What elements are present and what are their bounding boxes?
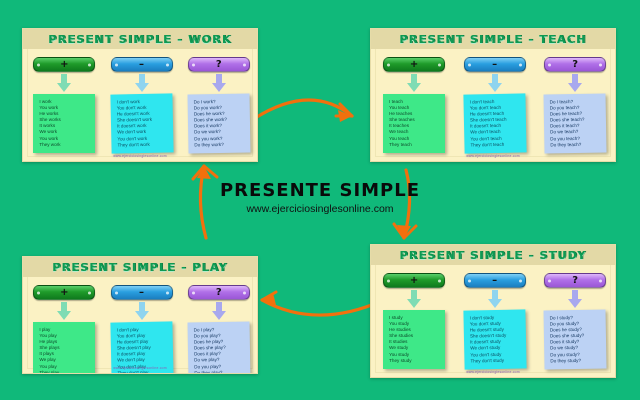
screw-icon [468, 279, 471, 282]
note-interrogative: Do I teach? Do you teach? Does he teach?… [544, 93, 607, 153]
card-title: PRESENT SIMPLE - STUDY [399, 249, 586, 262]
screw-icon [438, 279, 441, 282]
column-negative: – I don't study You don't study He doesn… [454, 267, 535, 369]
poster-title: PRESENTE SIMPLE [0, 181, 640, 201]
screw-icon [115, 63, 118, 66]
card-title-band: PRESENT SIMPLE - TEACH [371, 29, 615, 49]
card-work[interactable]: PRESENT SIMPLE - WORK + I work You work … [22, 28, 258, 162]
screw-icon [548, 63, 551, 66]
badge-symbol: – [139, 288, 144, 298]
badge-symbol: + [410, 60, 418, 70]
note-negative: I don't teach You don't teach He doesn't… [463, 93, 526, 153]
badge-affirmative[interactable]: + [383, 273, 445, 288]
badge-affirmative[interactable]: + [383, 57, 445, 72]
badge-interrogative[interactable]: ? [544, 57, 606, 72]
note-affirmative: I study You study He studies She studies… [383, 310, 445, 369]
badge-symbol: – [492, 276, 497, 286]
badge-symbol: – [492, 60, 497, 70]
card-title-band: PRESENT SIMPLE - WORK [23, 29, 257, 49]
sentence: Do they teach? [550, 141, 603, 148]
screw-icon [192, 63, 195, 66]
card-footer-url: www.ejerciciosinglesonline.com [371, 154, 615, 158]
screw-icon [243, 63, 246, 66]
screw-icon [166, 291, 169, 294]
poster-canvas: PRESENT SIMPLE - WORK + I work You work … [0, 0, 640, 400]
sentence: They don't study [470, 357, 523, 364]
card-study[interactable]: PRESENT SIMPLE - STUDY + I study You stu… [370, 244, 616, 378]
sentence: They work [39, 142, 92, 148]
screw-icon [387, 63, 390, 66]
card-columns: + I study You study He studies She studi… [371, 267, 615, 377]
badge-symbol: ? [572, 276, 578, 286]
note-affirmative: I teach You teach He teaches She teaches… [383, 94, 445, 153]
column-affirmative: + I teach You teach He teaches She teach… [373, 51, 454, 153]
screw-icon [599, 279, 602, 282]
screw-icon [387, 279, 390, 282]
sentence: They don't work [117, 141, 170, 148]
screw-icon [548, 279, 551, 282]
screw-icon [438, 63, 441, 66]
card-footer-url: www.ejerciciosinglesonline.com [23, 154, 257, 158]
screw-icon [599, 63, 602, 66]
down-arrow-icon [488, 74, 502, 92]
badge-interrogative[interactable]: ? [188, 57, 250, 72]
column-affirmative: + I play You play He plays She plays It … [25, 279, 103, 374]
badge-symbol: – [139, 60, 144, 70]
card-columns: + I work You work He works She works It … [23, 51, 257, 161]
badge-negative[interactable]: – [464, 273, 526, 288]
sentence: Do they study? [550, 357, 603, 364]
screw-icon [519, 63, 522, 66]
down-arrow-icon [407, 290, 421, 308]
column-negative: – I don't work You don't work He doesn't… [103, 51, 181, 153]
card-title-band: PRESENT SIMPLE - STUDY [371, 245, 615, 265]
column-interrogative: ? Do I study? Do you study? Does he stud… [534, 267, 615, 369]
centre-block: PRESENTE SIMPLE www.ejerciciosinglesonli… [0, 181, 640, 215]
down-arrow-icon [407, 74, 421, 92]
note-negative: I don't study You don't study He doesn't… [463, 309, 526, 369]
down-arrow-icon [568, 74, 582, 92]
note-interrogative: Do I work? Do you work? Does he work? Do… [187, 93, 250, 153]
down-arrow-icon [135, 74, 149, 92]
screw-icon [88, 291, 91, 294]
card-teach[interactable]: PRESENT SIMPLE - TEACH + I teach You tea… [370, 28, 616, 162]
card-columns: + I play You play He plays She plays It … [23, 279, 257, 373]
sentence: They study [389, 358, 442, 364]
badge-symbol: ? [216, 288, 222, 298]
screw-icon [37, 63, 40, 66]
column-negative: – I don't play You don't play He doesn't… [103, 279, 181, 374]
card-title: PRESENT SIMPLE - PLAY [52, 261, 228, 274]
sentence: They don't teach [470, 141, 523, 148]
down-arrow-icon [135, 302, 149, 320]
card-title-band: PRESENT SIMPLE - PLAY [23, 257, 257, 277]
badge-negative[interactable]: – [111, 285, 173, 300]
down-arrow-icon [568, 290, 582, 308]
screw-icon [192, 291, 195, 294]
card-footer-url: www.ejerciciosinglesonline.com [23, 366, 257, 370]
column-interrogative: ? Do I teach? Do you teach? Does he teac… [534, 51, 615, 153]
column-interrogative: ? Do I play? Do you play? Does he play? … [180, 279, 258, 374]
badge-symbol: + [410, 276, 418, 286]
card-title: PRESENT SIMPLE - TEACH [399, 33, 586, 46]
column-affirmative: + I study You study He studies She studi… [373, 267, 454, 369]
badge-symbol: ? [216, 60, 222, 70]
column-negative: – I don't teach You don't teach He doesn… [454, 51, 535, 153]
poster-url[interactable]: www.ejerciciosinglesonline.com [0, 203, 640, 215]
badge-negative[interactable]: – [464, 57, 526, 72]
screw-icon [37, 291, 40, 294]
card-columns: + I teach You teach He teaches She teach… [371, 51, 615, 161]
screw-icon [115, 291, 118, 294]
note-negative: I don't work You don't work He doesn't w… [110, 93, 173, 153]
screw-icon [88, 63, 91, 66]
sentence: They play [39, 370, 92, 374]
column-affirmative: + I work You work He works She works It … [25, 51, 103, 153]
note-affirmative: I work You work He works She works It wo… [33, 94, 95, 153]
down-arrow-icon [488, 290, 502, 308]
badge-negative[interactable]: – [111, 57, 173, 72]
down-arrow-icon [57, 302, 71, 320]
badge-affirmative[interactable]: + [33, 57, 95, 72]
screw-icon [166, 63, 169, 66]
badge-interrogative[interactable]: ? [544, 273, 606, 288]
screw-icon [243, 291, 246, 294]
card-footer-url: www.ejerciciosinglesonline.com [371, 370, 615, 374]
down-arrow-icon [212, 302, 226, 320]
screw-icon [519, 279, 522, 282]
note-interrogative: Do I study? Do you study? Does he study?… [544, 309, 607, 369]
badge-symbol: + [60, 60, 68, 70]
badge-symbol: + [60, 288, 68, 298]
badge-affirmative[interactable]: + [33, 285, 95, 300]
card-play[interactable]: PRESENT SIMPLE - PLAY + I play You play … [22, 256, 258, 374]
down-arrow-icon [212, 74, 226, 92]
sentence: They teach [389, 142, 442, 148]
badge-interrogative[interactable]: ? [188, 285, 250, 300]
card-title: PRESENT SIMPLE - WORK [48, 33, 232, 46]
sentence: Do they work? [194, 141, 247, 148]
badge-symbol: ? [572, 60, 578, 70]
screw-icon [468, 63, 471, 66]
column-interrogative: ? Do I work? Do you work? Does he work? … [180, 51, 258, 153]
down-arrow-icon [57, 74, 71, 92]
